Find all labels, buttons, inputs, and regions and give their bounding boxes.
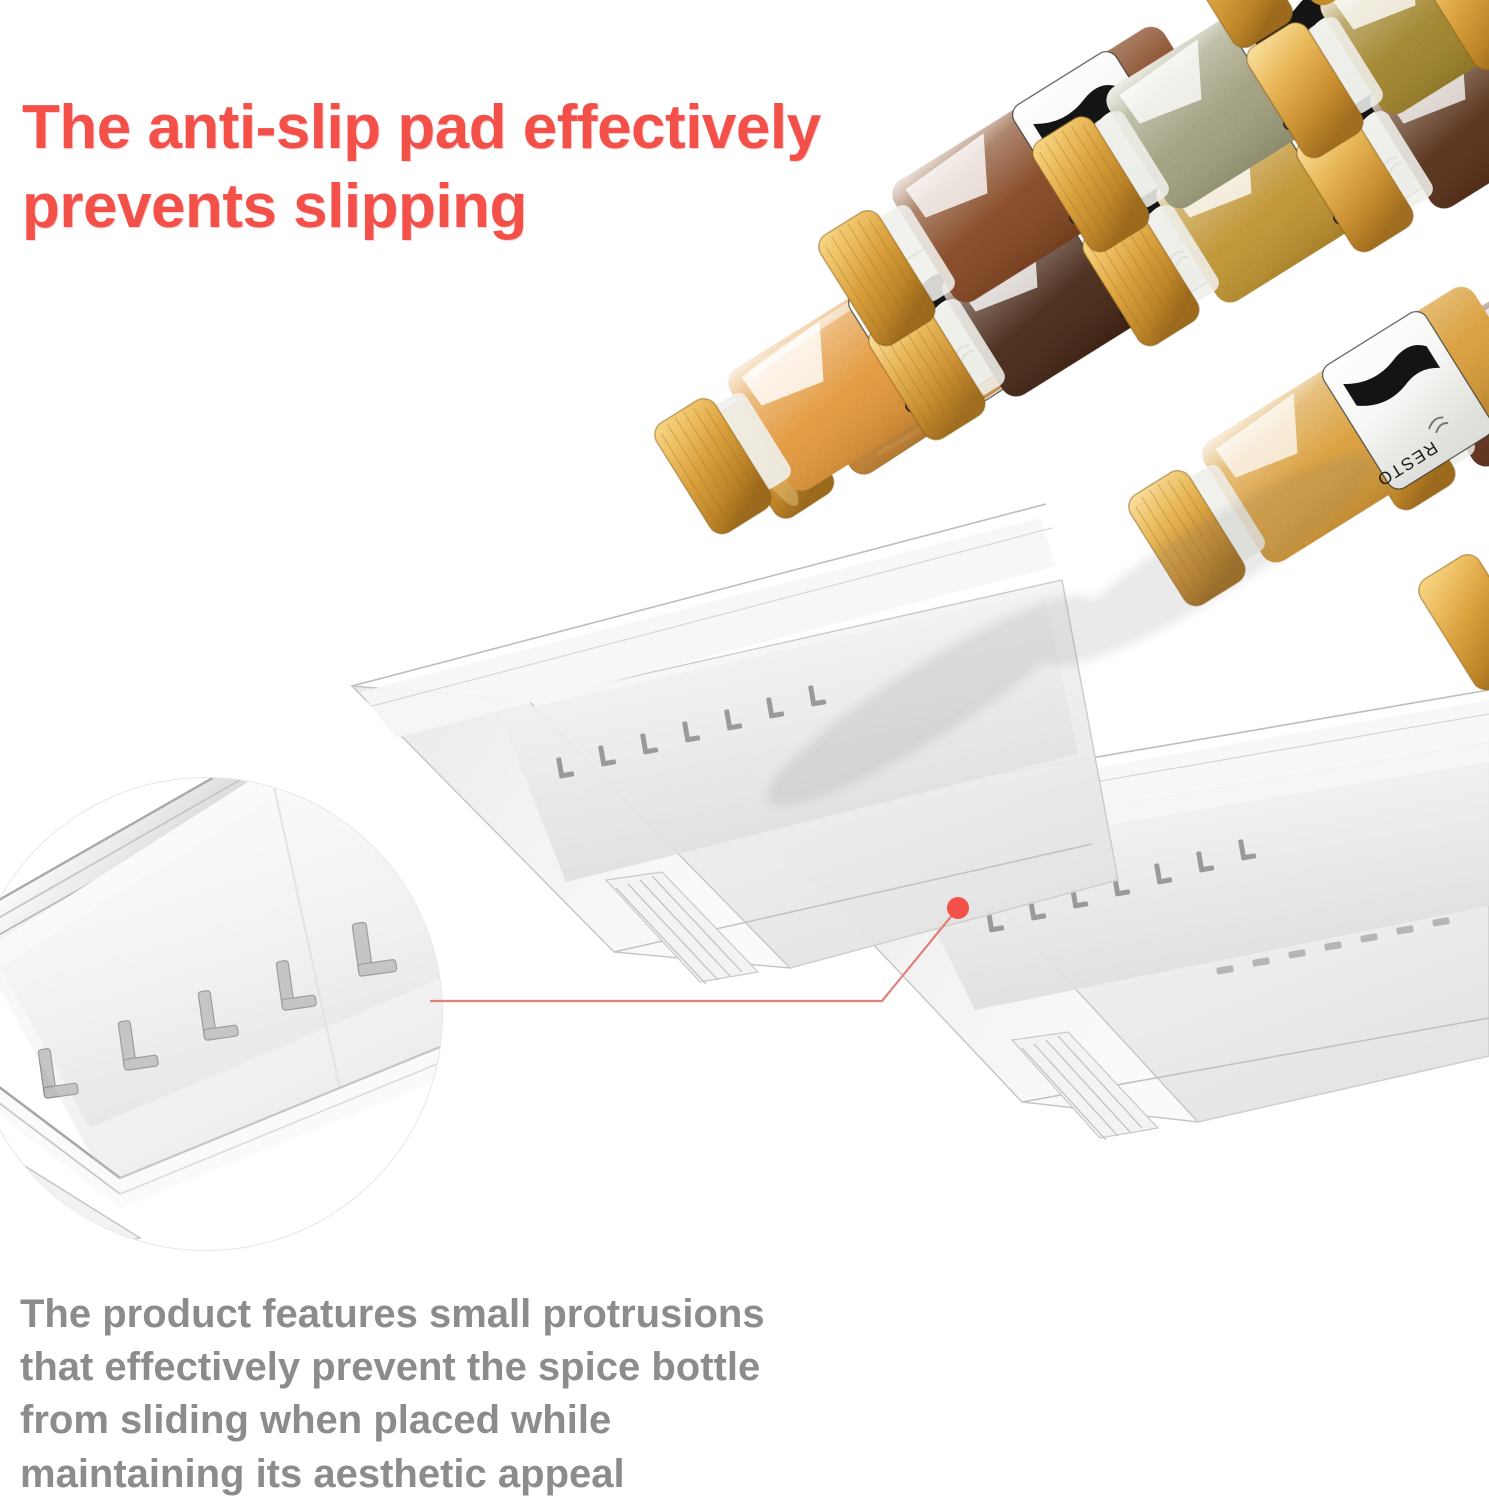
feature-description-caption: The product features small protrusions t…: [20, 1288, 920, 1500]
page-title: The anti-slip pad effectively prevents s…: [22, 88, 1022, 247]
product-feature-image: RESTO: [0, 0, 1489, 1500]
